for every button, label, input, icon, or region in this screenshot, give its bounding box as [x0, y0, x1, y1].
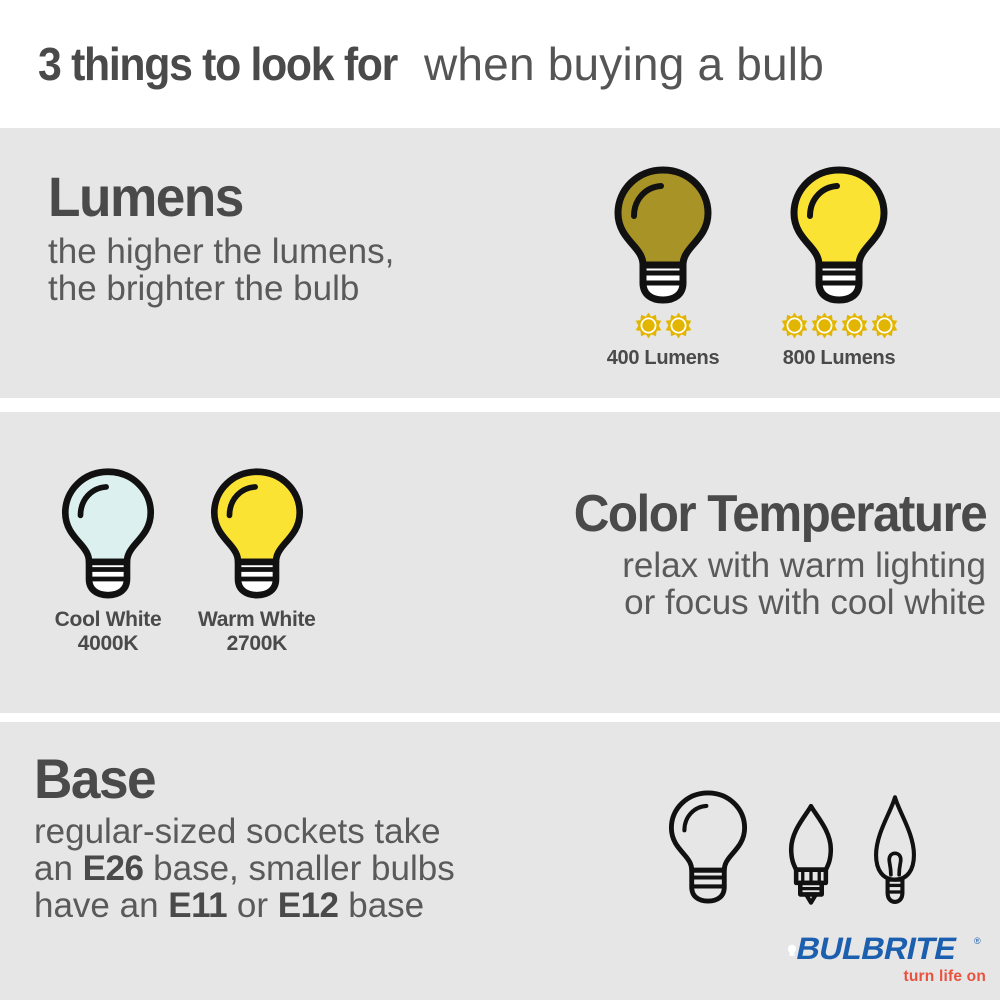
bulbrite-logo[interactable]: BULBRITE ® turn life on — [778, 931, 988, 986]
header-title-light: when buying a bulb — [424, 41, 824, 87]
base-text-block: Base regular-sized sockets takean E26 ba… — [34, 752, 654, 924]
page-header: 3 things to look for when buying a bulb — [0, 0, 1000, 128]
flame-bulb-outline-icon — [866, 794, 924, 906]
dim-bulb-icon — [604, 164, 722, 304]
sun-icon — [871, 312, 898, 339]
infographic-page: 3 things to look for when buying a bulb … — [0, 0, 1000, 1000]
color-temperature-subtitle-line-2: or focus with cool white — [378, 584, 986, 621]
sun-icon — [841, 312, 868, 339]
lumens-subtitle: the higher the lumens, the brighter the … — [48, 233, 578, 307]
lumens-800-sun-rating — [781, 310, 898, 340]
figure-candelabra-base — [778, 802, 844, 906]
header-title: 3 things to look for when buying a bulb — [38, 41, 824, 87]
logo-tagline: turn life on — [778, 968, 988, 986]
color-temperature-subtitle-line-1: relax with warm lighting — [378, 547, 986, 584]
lumens-figure-400: 400 Lumens — [604, 164, 722, 369]
base-subtitle: regular-sized sockets takean E26 base, s… — [34, 813, 654, 924]
standard-a-bulb-outline-icon — [660, 788, 756, 906]
figure-standard-base — [660, 788, 756, 906]
warm-white-bulb-icon — [201, 466, 313, 599]
color-temperature-title: Color Temperature — [574, 490, 986, 539]
base-title: Base — [34, 752, 155, 805]
header-title-bold: 3 things to look for — [38, 41, 397, 87]
sun-icon — [635, 312, 662, 339]
sun-icon — [665, 312, 692, 339]
lumens-subtitle-line-2: the brighter the bulb — [48, 270, 578, 307]
lumens-title: Lumens — [48, 170, 243, 223]
bright-bulb-icon — [780, 164, 898, 304]
base-figure-group — [660, 788, 924, 906]
lumens-text-block: Lumens the higher the lumens, the bright… — [48, 170, 578, 307]
figure-warm-white: Warm White 2700K — [198, 466, 316, 655]
lumens-subtitle-line-1: the higher the lumens, — [48, 233, 578, 270]
candelabra-bulb-outline-icon — [778, 802, 844, 906]
color-temperature-text-block: Color Temperature relax with warm lighti… — [378, 490, 986, 622]
figure-cool-white: Cool White 4000K — [52, 466, 164, 655]
lumens-400-sun-rating — [635, 310, 692, 340]
svg-text:BULBRITE: BULBRITE — [793, 931, 959, 966]
sun-icon — [811, 312, 838, 339]
lumens-400-label: 400 Lumens — [607, 347, 720, 369]
bulbrite-wordmark-icon: BULBRITE ® — [778, 931, 986, 967]
lumens-figure-800: 800 Lumens — [780, 164, 898, 369]
warm-white-label: Warm White 2700K — [198, 608, 316, 655]
cool-white-bulb-icon — [52, 466, 164, 599]
registered-mark: ® — [974, 936, 981, 946]
cool-white-label: Cool White 4000K — [55, 608, 162, 655]
sun-icon — [781, 312, 808, 339]
color-temperature-subtitle: relax with warm lighting or focus with c… — [378, 547, 986, 621]
lumens-800-label: 800 Lumens — [783, 347, 896, 369]
color-temperature-figure-group: Cool White 4000K Warm White 2700K — [52, 466, 316, 655]
figure-flame-base — [866, 794, 924, 906]
lumens-figure-group: 400 Lumens — [604, 164, 898, 369]
